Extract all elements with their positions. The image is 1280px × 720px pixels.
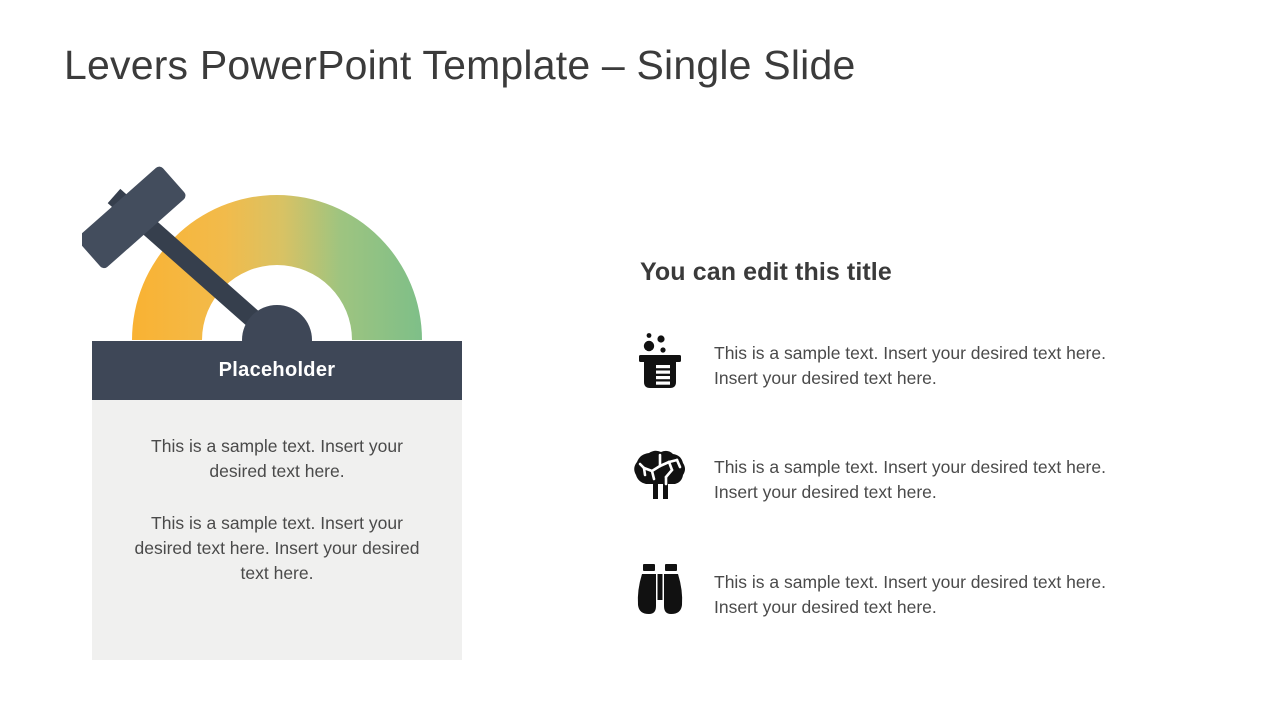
- left-gauge-card-panel: Placeholder This is a sample text. Inser…: [92, 160, 462, 660]
- beaker-icon: [628, 329, 692, 391]
- card-body: This is a sample text. Insert your desir…: [92, 400, 462, 660]
- brain-icon: [628, 444, 692, 506]
- card-header-label: Placeholder: [219, 359, 336, 382]
- list-item: This is a sample text. Insert your desir…: [628, 329, 1168, 391]
- section-title: You can edit this title: [640, 258, 1168, 287]
- list-item: This is a sample text. Insert your desir…: [628, 559, 1168, 621]
- card-paragraph: This is a sample text. Insert your desir…: [120, 511, 434, 586]
- binoculars-icon: [628, 559, 692, 621]
- list-item-text: This is a sample text. Insert your desir…: [714, 329, 1138, 391]
- lever-gauge-icon: [82, 158, 472, 348]
- list-item: This is a sample text. Insert your desir…: [628, 444, 1168, 506]
- gauge-graphic: [92, 160, 462, 342]
- card-header: Placeholder: [92, 341, 462, 400]
- placeholder-card: Placeholder This is a sample text. Inser…: [92, 341, 462, 660]
- page-title: Levers PowerPoint Template – Single Slid…: [64, 42, 855, 89]
- list-item-text: This is a sample text. Insert your desir…: [714, 559, 1138, 620]
- right-content-panel: You can edit this title This is a sampl: [628, 258, 1168, 621]
- list-item-text: This is a sample text. Insert your desir…: [714, 444, 1138, 505]
- card-paragraph: This is a sample text. Insert your desir…: [120, 434, 434, 484]
